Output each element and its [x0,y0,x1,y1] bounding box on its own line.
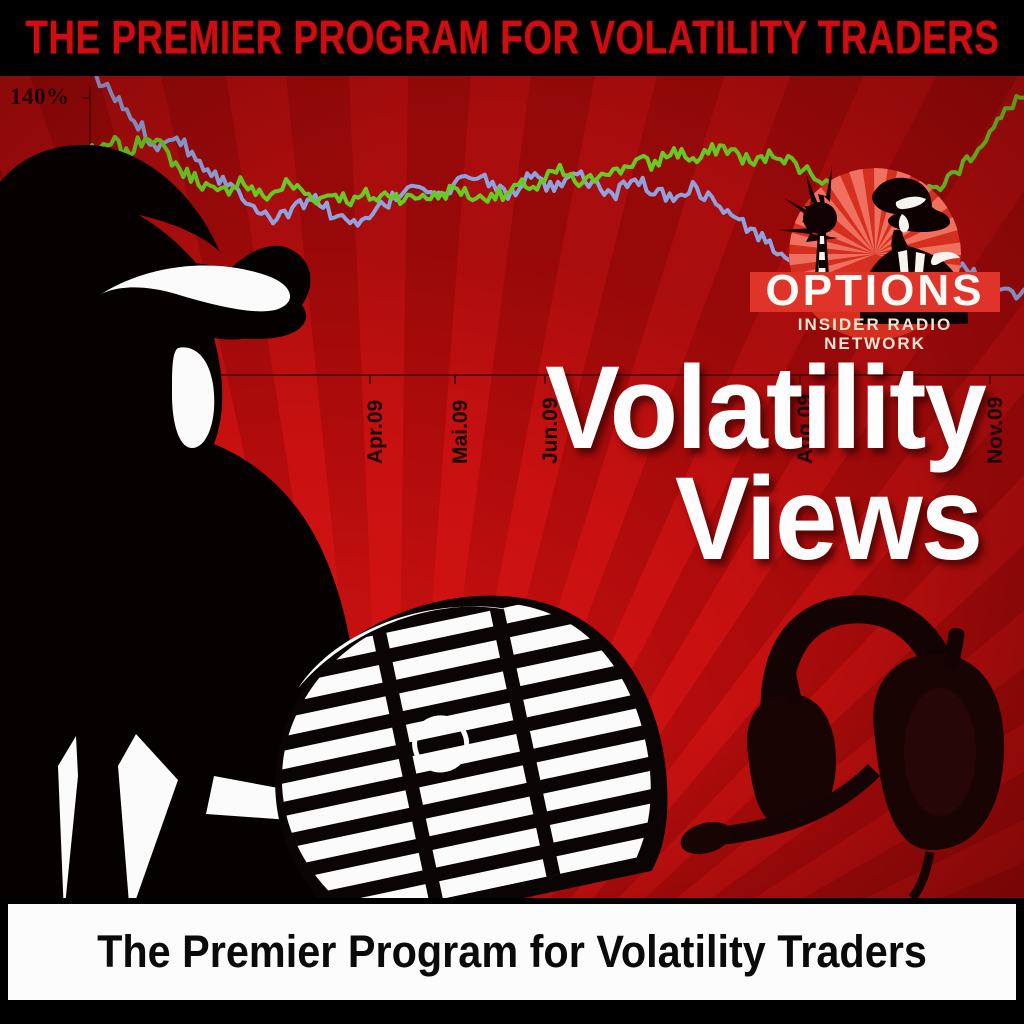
top-banner: THE PREMIER PROGRAM FOR VOLATILITY TRADE… [0,0,1024,76]
cover-art-panel: 140% 100% 60% Apr.09 Mai.09 Jun.09 Aug.0… [0,76,1024,898]
show-title: Volatility Views [455,353,985,575]
logo-tagline-line-1: INSIDER RADIO [798,315,952,334]
title-line-views: Views [482,464,986,575]
bottom-black-margin [0,1000,1024,1024]
options-insider-radio-network-logo: OPTIONS INSIDER RADIO NETWORK [744,162,1006,362]
podcast-cover-art: THE PREMIER PROGRAM FOR VOLATILITY TRADE… [0,0,1024,1024]
title-line-volatility: Volatility [482,353,986,464]
bottom-caption-text: The Premier Program for Volatility Trade… [97,926,927,978]
top-banner-text: THE PREMIER PROGRAM FOR VOLATILITY TRADE… [25,11,999,65]
logo-wordmark: OPTIONS [765,266,984,315]
bottom-caption-bar: The Premier Program for Volatility Trade… [8,904,1016,1000]
